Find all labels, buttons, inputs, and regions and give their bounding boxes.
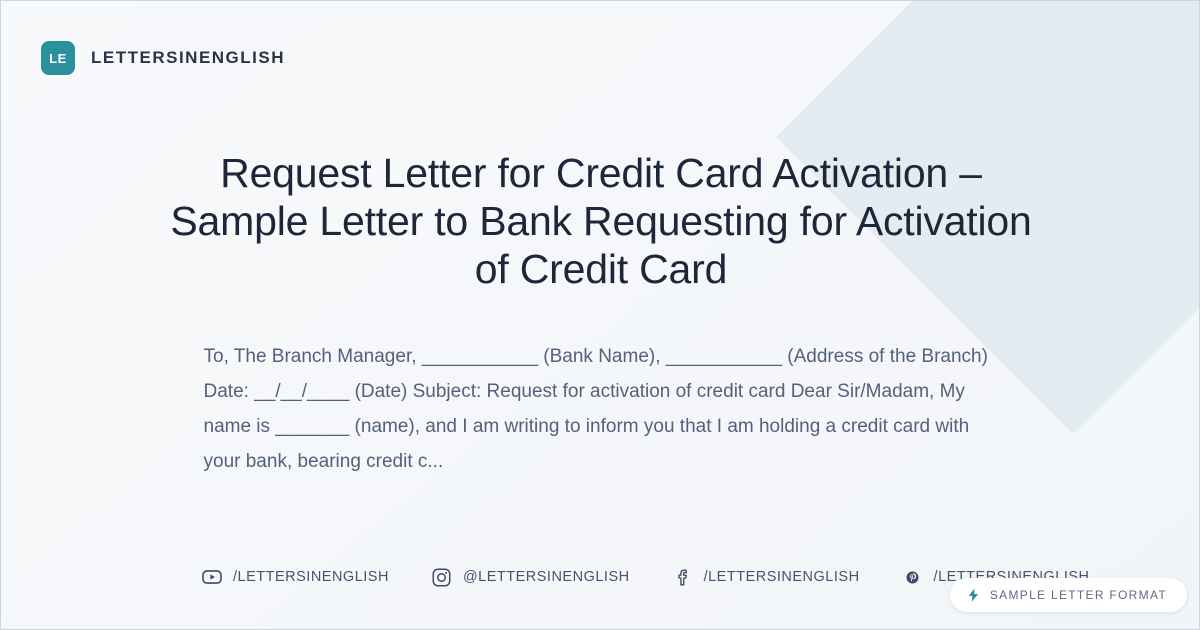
share-card-canvas: LE LETTERSINENGLISH Request Letter for C… xyxy=(0,0,1200,630)
brand-header[interactable]: LE LETTERSINENGLISH xyxy=(41,41,285,75)
social-link-instagram[interactable]: @LETTERSINENGLISH xyxy=(431,566,630,588)
brand-name: LETTERSINENGLISH xyxy=(91,48,285,68)
pinterest-icon xyxy=(902,566,924,588)
facebook-icon xyxy=(672,566,694,588)
instagram-icon xyxy=(431,566,453,588)
status-badge[interactable]: SAMPLE LETTER FORMAT xyxy=(950,578,1187,612)
social-handle-facebook: /LETTERSINENGLISH xyxy=(704,569,860,585)
lightning-bolt-icon xyxy=(966,587,981,603)
social-handle-instagram: @LETTERSINENGLISH xyxy=(463,569,630,585)
le-monogram-icon: LE xyxy=(41,41,75,75)
page-title: Request Letter for Credit Card Activatio… xyxy=(101,149,1101,293)
social-link-youtube[interactable]: /LETTERSINENGLISH xyxy=(201,566,389,588)
article-excerpt: To, The Branch Manager, ___________ (Ban… xyxy=(204,339,999,479)
youtube-icon xyxy=(201,566,223,588)
social-link-facebook[interactable]: /LETTERSINENGLISH xyxy=(672,566,860,588)
social-handle-youtube: /LETTERSINENGLISH xyxy=(233,569,389,585)
badge-label: SAMPLE LETTER FORMAT xyxy=(990,588,1167,602)
main-content: Request Letter for Credit Card Activatio… xyxy=(101,149,1101,479)
